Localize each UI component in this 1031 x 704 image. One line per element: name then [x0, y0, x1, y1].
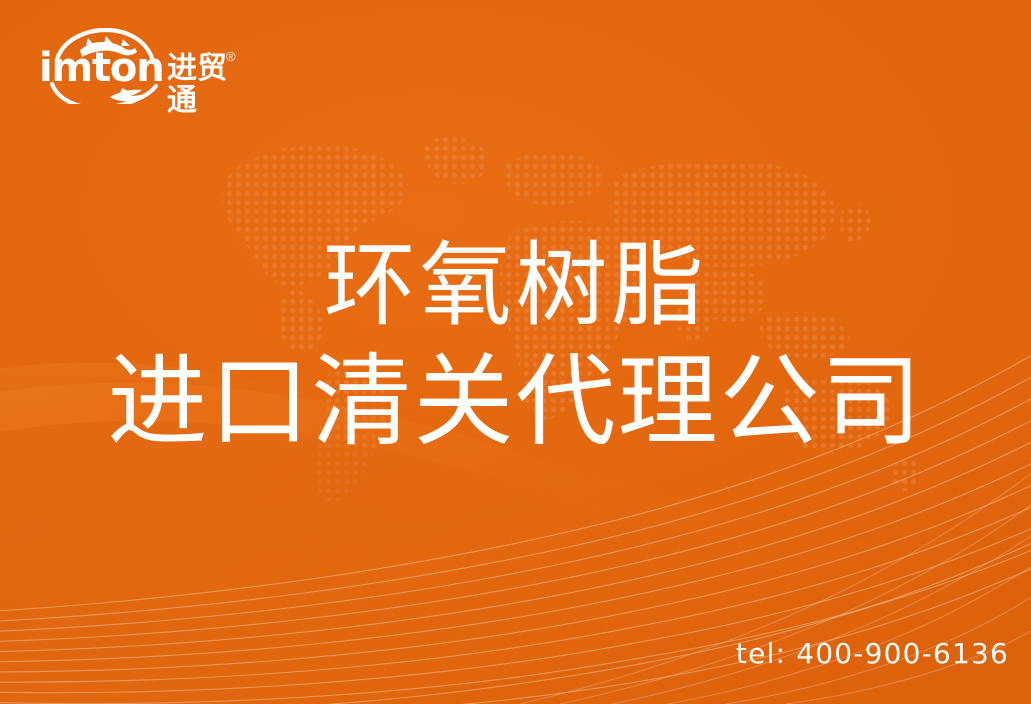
registered-trademark-icon: ® [226, 50, 236, 63]
headline-line-2: 进口清关代理公司 [0, 344, 1031, 460]
logo-wordmark: imton [39, 48, 163, 88]
logo-chinese-name: 进贸通 [167, 53, 251, 117]
brand-logo[interactable]: imton 进贸通 ® [36, 28, 251, 104]
contact-telephone[interactable]: tel: 400-900-6136 [736, 637, 1009, 670]
headline-block: 环氧树脂 进口清关代理公司 [0, 228, 1031, 460]
promo-banner: imton 进贸通 ® 环氧树脂 进口清关代理公司 tel: 400-900-6… [0, 0, 1031, 704]
headline-line-1: 环氧树脂 [0, 228, 1031, 344]
